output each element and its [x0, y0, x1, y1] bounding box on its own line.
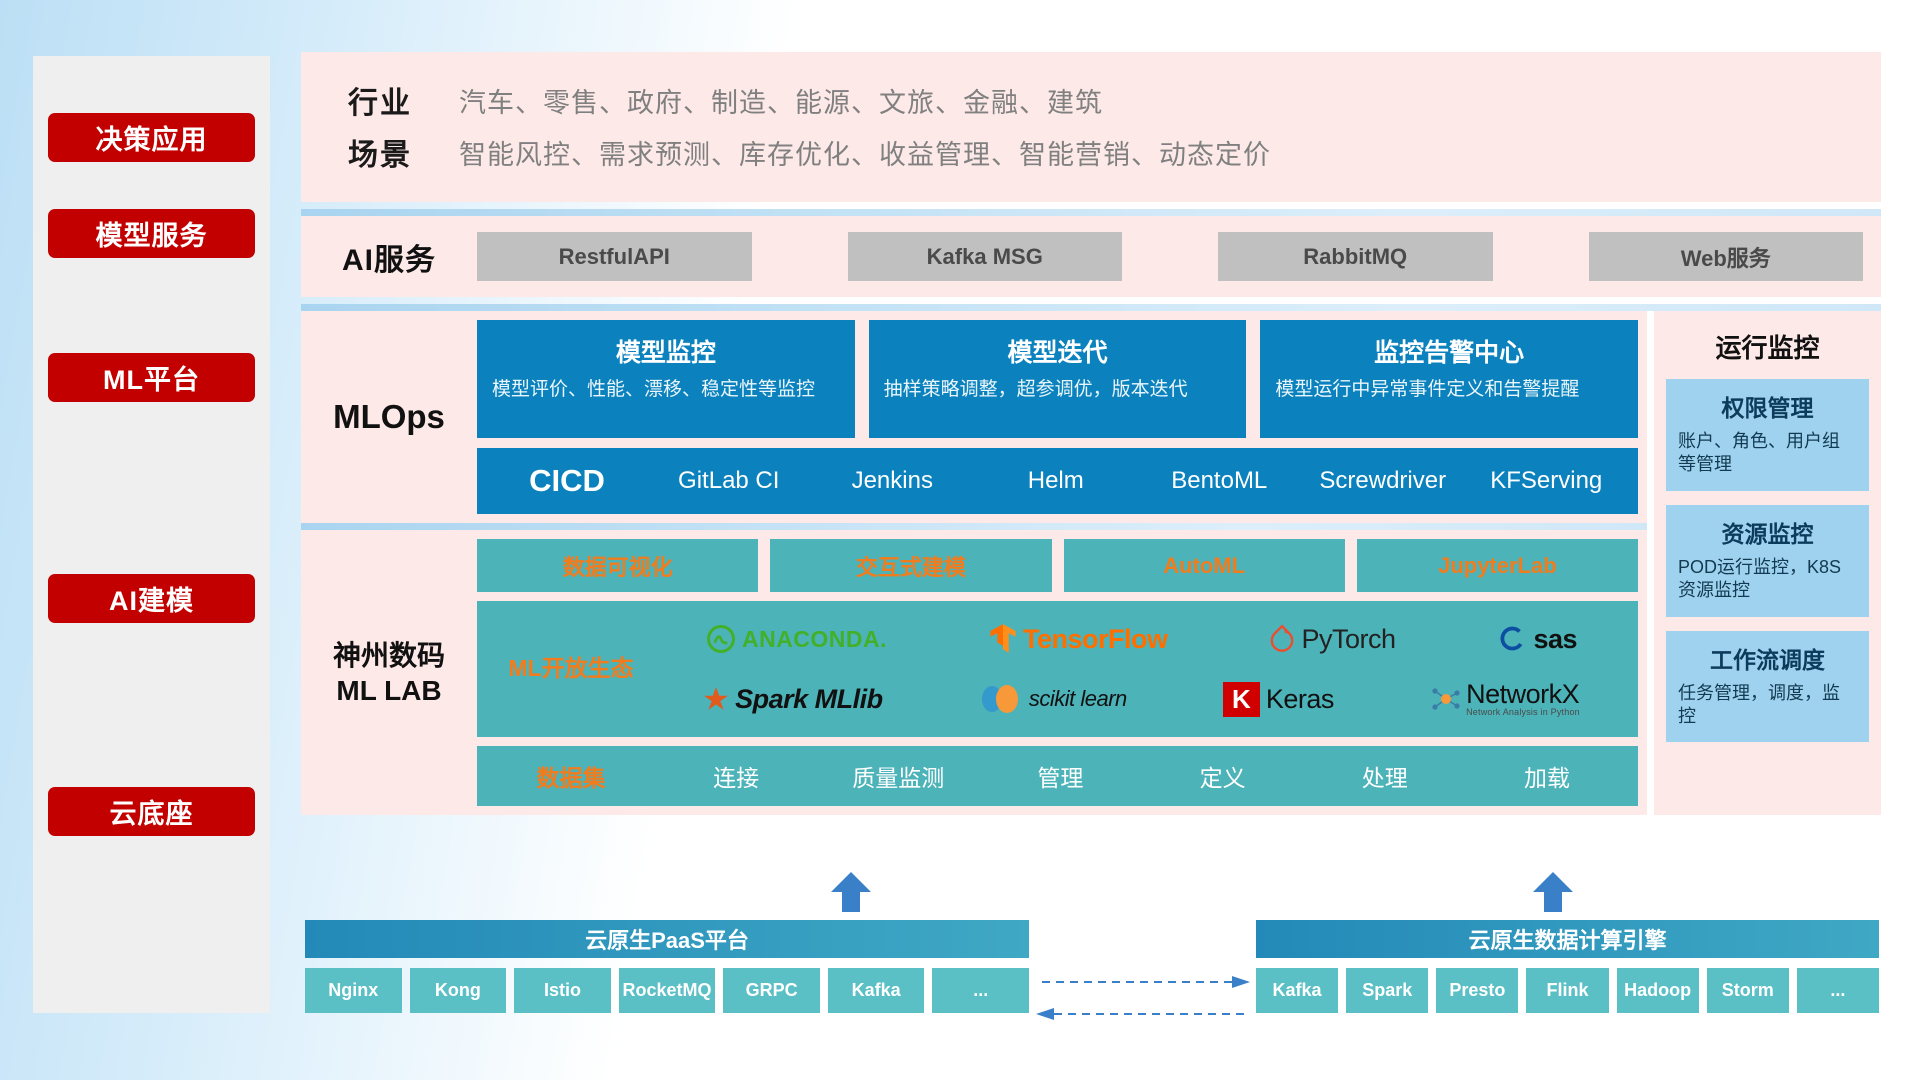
scikit-learn-logo: scikit learn — [979, 683, 1127, 715]
dataset-item-quality[interactable]: 质量监测 — [817, 759, 979, 793]
dataset-item-define[interactable]: 定义 — [1142, 759, 1304, 793]
cicd-item-bentoml[interactable]: BentoML — [1138, 468, 1302, 493]
engine-chip-more[interactable]: ... — [1797, 968, 1879, 1013]
networkx-icon — [1430, 685, 1460, 713]
mlops-label: MLOps — [301, 398, 477, 436]
anaconda-icon — [706, 624, 736, 654]
tensorflow-logo: TensorFlow — [989, 623, 1168, 655]
sas-logo: sas — [1497, 624, 1577, 655]
monitor-card-permission[interactable]: 权限管理 账户、角色、用户组等管理 — [1666, 379, 1869, 491]
paas-chip-grpc[interactable]: GRPC — [723, 968, 820, 1013]
dataset-item-list: 连接 质量监测 管理 定义 处理 加载 — [655, 759, 1628, 793]
stack-layer-rail: 决策应用 模型服务 ML平台 AI建模 云底座 — [33, 56, 270, 1013]
ml-open-ecosystem-title: ML开放生态 — [487, 655, 655, 683]
lab-tool-list: 数据可视化 交互式建模 AutoML JupyterLab — [477, 539, 1638, 592]
anaconda-logo-text: ANACONDA. — [742, 626, 887, 653]
architecture-diagram: 行业 汽车、零售、政府、制造、能源、文旅、金融、建筑 场景 智能风控、需求预测、… — [301, 52, 1881, 815]
paas-chip-list: Nginx Kong Istio RocketMQ GRPC Kafka ... — [305, 968, 1029, 1013]
dataset-title: 数据集 — [487, 759, 655, 793]
lab-tool-jupyterlab[interactable]: JupyterLab — [1357, 539, 1638, 592]
cicd-item-screwdriver[interactable]: Screwdriver — [1301, 468, 1465, 493]
card-title: 权限管理 — [1678, 389, 1857, 423]
cicd-item-jenkins[interactable]: Jenkins — [811, 468, 975, 493]
ecosystem-logo-row-2: Spark MLlib scikit learn — [655, 669, 1628, 729]
up-arrow-icon-paas — [829, 872, 873, 912]
rail-item-label: 云底座 — [110, 792, 194, 831]
dataset-item-manage[interactable]: 管理 — [979, 759, 1141, 793]
engine-chip-kafka[interactable]: Kafka — [1256, 968, 1338, 1013]
data-engine-title: 云原生数据计算引擎 — [1256, 920, 1879, 958]
industry-values: 汽车、零售、政府、制造、能源、文旅、金融、建筑 — [459, 81, 1103, 120]
paas-chip-rocketmq[interactable]: RocketMQ — [619, 968, 716, 1013]
card-desc: 抽样策略调整，超参调优，版本迭代 — [884, 378, 1232, 402]
dataset-item-process[interactable]: 处理 — [1304, 759, 1466, 793]
card-title: 资源监控 — [1678, 515, 1857, 549]
mlops-card-model-monitoring[interactable]: 模型监控 模型评价、性能、漂移、稳定性等监控 — [477, 320, 855, 438]
mlops-card-alert-center[interactable]: 监控告警中心 模型运行中异常事件定义和告警提醒 — [1260, 320, 1638, 438]
engine-chip-list: Kafka Spark Presto Flink Hadoop Storm ..… — [1256, 968, 1879, 1013]
scenario-row: 场景 智能风控、需求预测、库存优化、收益管理、智能营销、动态定价 — [301, 130, 1881, 174]
dataset-item-connect[interactable]: 连接 — [655, 759, 817, 793]
paas-chip-nginx[interactable]: Nginx — [305, 968, 402, 1013]
band-divider — [301, 304, 1881, 311]
spark-icon — [703, 686, 729, 712]
card-desc: POD运行监控，K8S资源监控 — [1678, 556, 1857, 603]
rail-item-label: 模型服务 — [96, 214, 208, 253]
engine-chip-storm[interactable]: Storm — [1707, 968, 1789, 1013]
paas-platform-title: 云原生PaaS平台 — [305, 920, 1029, 958]
ml-lab-band: 神州数码 ML LAB 数据可视化 交互式建模 AutoML JupyterLa… — [301, 530, 1647, 815]
lab-tool-data-visualization[interactable]: 数据可视化 — [477, 539, 758, 592]
keras-icon: K — [1223, 682, 1260, 717]
platform-and-monitoring: MLOps 模型监控 模型评价、性能、漂移、稳定性等监控 模型迭代 抽样策略调整… — [301, 311, 1881, 815]
up-arrow-icon-engine — [1531, 872, 1575, 912]
monitor-card-workflow[interactable]: 工作流调度 任务管理，调度，监控 — [1666, 631, 1869, 743]
band-divider — [301, 209, 1881, 216]
ai-service-label: AI服务 — [301, 235, 477, 279]
networkx-logo: NetworkX Network Analysis in Python — [1430, 681, 1580, 717]
mlops-card-model-iteration[interactable]: 模型迭代 抽样策略调整，超参调优，版本迭代 — [869, 320, 1247, 438]
runtime-monitoring-title: 运行监控 — [1666, 328, 1869, 365]
cicd-item-helm[interactable]: Helm — [974, 468, 1138, 493]
spark-mllib-logo-text: Spark MLlib — [735, 684, 883, 715]
industry-label: 行业 — [301, 78, 459, 122]
keras-logo-text: Keras — [1266, 684, 1334, 715]
ml-open-ecosystem: ML开放生态 ANACONDA. — [477, 601, 1638, 737]
paas-chip-istio[interactable]: Istio — [514, 968, 611, 1013]
sas-icon — [1497, 624, 1527, 654]
paas-chip-kong[interactable]: Kong — [410, 968, 507, 1013]
scikit-learn-icon — [979, 683, 1023, 715]
lab-tool-interactive-modeling[interactable]: 交互式建模 — [770, 539, 1051, 592]
scenario-values: 智能风控、需求预测、库存优化、收益管理、智能营销、动态定价 — [459, 133, 1271, 172]
engine-chip-presto[interactable]: Presto — [1436, 968, 1518, 1013]
cloud-base-section: 云原生PaaS平台 云原生数据计算引擎 Nginx Kong Istio Roc… — [301, 880, 1881, 1060]
pytorch-logo: PyTorch — [1269, 624, 1395, 655]
bidirectional-dashed-arrows — [1036, 968, 1250, 1028]
ai-chip-rabbitmq[interactable]: RabbitMQ — [1218, 232, 1493, 281]
rail-item-decision-apps[interactable]: 决策应用 — [48, 113, 255, 162]
monitor-card-resource[interactable]: 资源监控 POD运行监控，K8S资源监控 — [1666, 505, 1869, 617]
engine-chip-spark[interactable]: Spark — [1346, 968, 1428, 1013]
keras-logo: K Keras — [1223, 682, 1334, 717]
anaconda-logo: ANACONDA. — [706, 624, 887, 654]
ai-chip-kafka-msg[interactable]: Kafka MSG — [848, 232, 1123, 281]
mlops-band: MLOps 模型监控 模型评价、性能、漂移、稳定性等监控 模型迭代 抽样策略调整… — [301, 311, 1647, 523]
card-desc: 账户、角色、用户组等管理 — [1678, 430, 1857, 477]
engine-chip-hadoop[interactable]: Hadoop — [1617, 968, 1699, 1013]
cicd-bar: CICD GitLab CI Jenkins Helm BentoML Scre… — [477, 448, 1638, 514]
spark-mllib-logo: Spark MLlib — [703, 684, 883, 715]
ml-lab-label-line1: 神州数码 — [301, 638, 477, 673]
networkx-logo-text: NetworkX — [1466, 681, 1580, 708]
ai-service-band: AI服务 RestfulAPI Kafka MSG RabbitMQ Web服务 — [301, 216, 1881, 297]
engine-chip-flink[interactable]: Flink — [1526, 968, 1608, 1013]
scikit-learn-logo-text: scikit learn — [1029, 686, 1127, 712]
rail-item-cloud-base[interactable]: 云底座 — [48, 787, 255, 836]
tensorflow-icon — [989, 623, 1017, 655]
band-divider — [301, 523, 1647, 530]
industry-row: 行业 汽车、零售、政府、制造、能源、文旅、金融、建筑 — [301, 78, 1881, 122]
paas-chip-more[interactable]: ... — [932, 968, 1029, 1013]
rail-item-ai-modeling[interactable]: AI建模 — [48, 574, 255, 623]
rail-item-label: ML平台 — [103, 358, 200, 397]
decision-applications-band: 行业 汽车、零售、政府、制造、能源、文旅、金融、建筑 场景 智能风控、需求预测、… — [301, 52, 1881, 202]
card-title: 模型监控 — [492, 333, 840, 369]
card-desc: 模型评价、性能、漂移、稳定性等监控 — [492, 378, 840, 402]
scenario-label: 场景 — [301, 130, 459, 174]
dataset-item-load[interactable]: 加载 — [1466, 759, 1628, 793]
mlops-card-list: 模型监控 模型评价、性能、漂移、稳定性等监控 模型迭代 抽样策略调整，超参调优，… — [477, 320, 1638, 438]
ai-service-chip-list: RestfulAPI Kafka MSG RabbitMQ Web服务 — [477, 232, 1863, 281]
card-title: 工作流调度 — [1678, 641, 1857, 675]
rail-item-label: AI建模 — [109, 579, 194, 618]
card-title: 监控告警中心 — [1275, 333, 1623, 369]
ml-lab-label: 神州数码 ML LAB — [301, 638, 477, 708]
runtime-monitoring-column: 运行监控 权限管理 账户、角色、用户组等管理 资源监控 POD运行监控，K8S资… — [1654, 311, 1881, 815]
ai-chip-restfulapi[interactable]: RestfulAPI — [477, 232, 752, 281]
dataset-bar: 数据集 连接 质量监测 管理 定义 处理 加载 — [477, 746, 1638, 806]
cicd-item-gitlab-ci[interactable]: GitLab CI — [647, 468, 811, 493]
pytorch-logo-text: PyTorch — [1301, 624, 1395, 655]
cicd-item-kfserving[interactable]: KFServing — [1465, 468, 1629, 493]
card-desc: 任务管理，调度，监控 — [1678, 682, 1857, 729]
tensorflow-logo-text: TensorFlow — [1023, 624, 1168, 655]
rail-item-ml-platform[interactable]: ML平台 — [48, 353, 255, 402]
paas-chip-kafka[interactable]: Kafka — [828, 968, 925, 1013]
cicd-item-list: GitLab CI Jenkins Helm BentoML Screwdriv… — [647, 468, 1628, 493]
rail-item-model-service[interactable]: 模型服务 — [48, 209, 255, 258]
cicd-title: CICD — [487, 463, 647, 499]
pytorch-icon — [1269, 624, 1295, 654]
card-title: 模型迭代 — [884, 333, 1232, 369]
rail-item-label: 决策应用 — [96, 118, 208, 157]
networkx-subtitle: Network Analysis in Python — [1466, 708, 1580, 717]
ml-lab-label-line2: ML LAB — [301, 673, 477, 708]
card-desc: 模型运行中异常事件定义和告警提醒 — [1275, 378, 1623, 402]
lab-tool-automl[interactable]: AutoML — [1064, 539, 1345, 592]
sas-logo-text: sas — [1533, 624, 1577, 655]
ai-chip-web-service[interactable]: Web服务 — [1589, 232, 1864, 281]
ecosystem-logo-row-1: ANACONDA. TensorFlow — [655, 609, 1628, 669]
